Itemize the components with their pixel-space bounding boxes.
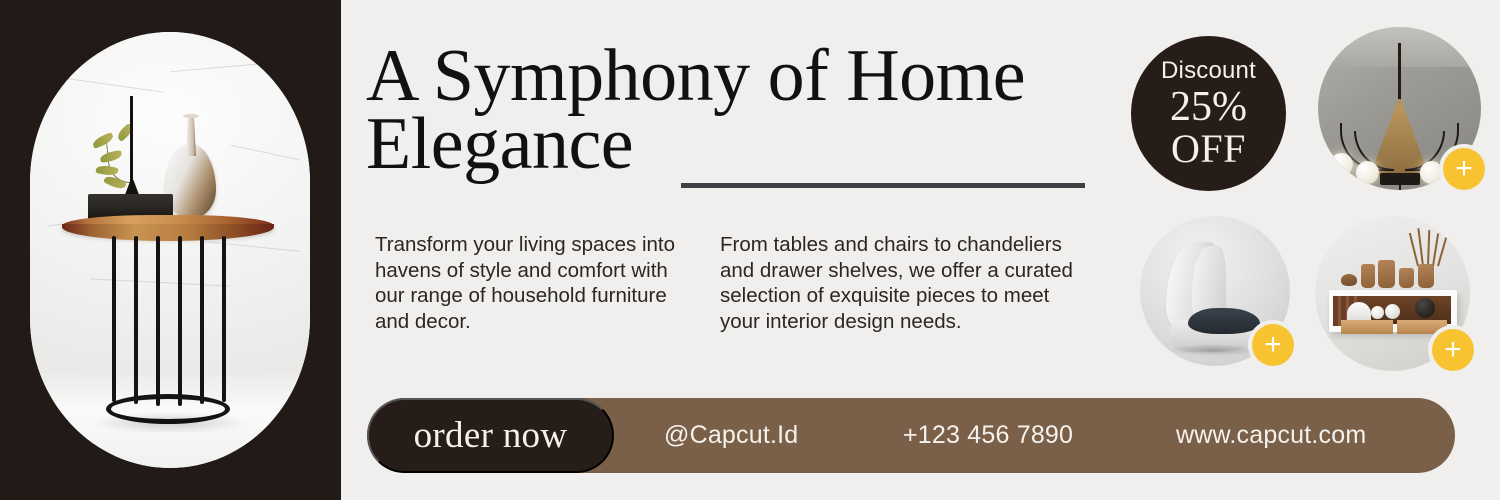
order-now-button[interactable]: order now (367, 398, 614, 473)
ceramic-vase (166, 114, 216, 218)
discount-label: Discount (1161, 58, 1256, 84)
website-url[interactable]: www.capcut.com (1176, 398, 1366, 473)
social-handle[interactable]: @Capcut.Id (664, 398, 798, 473)
product-thumb-armchair[interactable]: + (1140, 216, 1290, 366)
body-paragraph-2: From tables and chairs to chandeliers an… (720, 232, 1090, 334)
discount-percent: 25% (1170, 85, 1247, 129)
product-thumb-shelf[interactable]: + (1315, 216, 1470, 371)
hero-panel (0, 0, 341, 500)
discount-badge: Discount 25% OFF (1131, 36, 1286, 191)
headline-underline-rule (681, 183, 1085, 188)
hero-image-side-table (30, 32, 310, 468)
page-title: A Symphony of Home Elegance (366, 42, 1096, 178)
add-product-icon[interactable]: + (1432, 329, 1474, 371)
add-product-icon[interactable]: + (1252, 324, 1294, 366)
product-thumb-chandelier[interactable]: + (1318, 27, 1481, 190)
body-paragraph-1: Transform your living spaces into havens… (375, 232, 680, 334)
phone-number[interactable]: +123 456 7890 (903, 398, 1073, 473)
headline-line-1: A Symphony of Home (366, 42, 1096, 110)
promo-banner: A Symphony of Home Elegance Transform yo… (0, 0, 1500, 500)
discount-off-text: OFF (1171, 129, 1246, 169)
table-shadow (90, 412, 250, 434)
add-product-icon[interactable]: + (1443, 148, 1485, 190)
headline-line-2: Elegance (366, 110, 1096, 178)
